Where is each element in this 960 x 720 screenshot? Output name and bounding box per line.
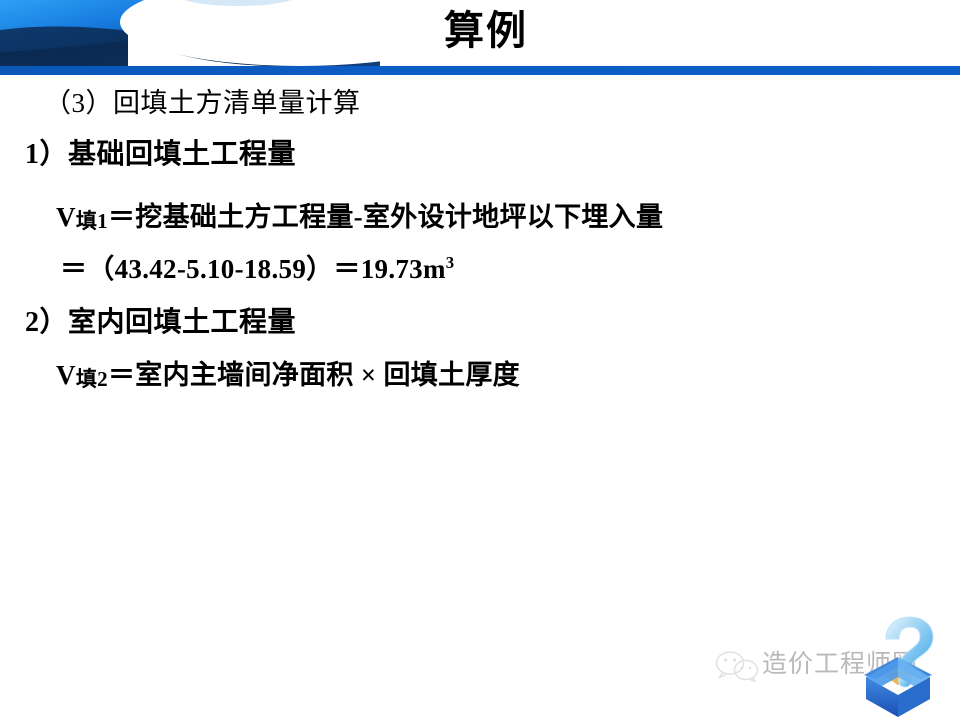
formula-1-variable: V: [56, 202, 76, 232]
content-line-formula-1: V填1＝挖基础土方工程量-室外设计地坪以下埋入量: [56, 204, 663, 231]
content-line-item-2: 2）室内回填土工程量: [25, 309, 296, 337]
formula-1-subscript: 填1: [76, 209, 108, 233]
formula-2-subscript: 填2: [76, 367, 108, 391]
slide-canvas: 算例 （3）回填土方清单量计算 1）基础回填土工程量 V填1＝挖基础土方工程量-…: [0, 0, 960, 720]
content-line-formula-2: V填2＝室内主墙间净面积 × 回填土厚度: [56, 362, 520, 389]
result-1-unit-power: 3: [446, 253, 455, 272]
page-title: 算例: [0, 7, 960, 55]
content-line-item-1: 1）基础回填土工程量: [25, 141, 296, 169]
content-line-item-3: （3）回填土方清单量计算: [44, 90, 361, 117]
result-1-expression: ＝（43.42-5.10-18.59）＝19.73m: [60, 254, 446, 284]
slide-content: （3）回填土方清单量计算 1）基础回填土工程量 V填1＝挖基础土方工程量-室外设…: [0, 84, 960, 604]
question-mark-box-logo: [850, 615, 946, 719]
formula-2-expression: ＝室内主墙间净面积 × 回填土厚度: [108, 360, 520, 390]
content-line-result-1: ＝（43.42-5.10-18.59）＝19.73m3: [60, 256, 454, 283]
slide-header: 算例: [0, 0, 960, 75]
formula-1-expression: ＝挖基础土方工程量-室外设计地坪以下埋入量: [108, 202, 663, 232]
watermark: 造价工程师圈: [712, 640, 960, 720]
formula-2-variable: V: [56, 360, 76, 390]
wechat-icon: [714, 650, 760, 684]
